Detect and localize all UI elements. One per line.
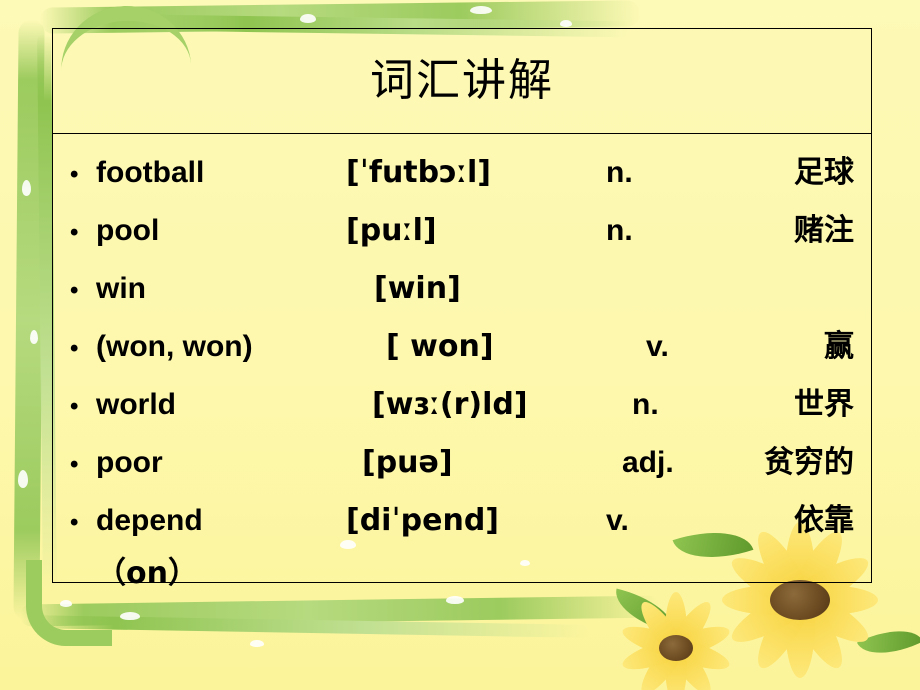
speckle [18,470,28,488]
vocab-pos: n. [632,376,659,434]
vocab-meaning: 依靠 [629,492,858,550]
bullet-icon: • [70,320,96,378]
vocab-phonetic: [ won] [346,318,646,376]
bullet-icon: • [70,494,96,552]
vocab-word: pool [96,202,346,260]
speckle [250,640,264,647]
slide-canvas: 词汇讲解 • football [ˈfutbɔːl] n. 足球 • pool … [0,0,920,690]
vocab-phonetic: [ˈfutbɔːl] [346,144,606,202]
vocab-word: (won, won) [96,318,346,376]
title-area: 词汇讲解 [52,28,872,134]
vocab-meaning: 赢 [669,318,858,376]
speckle [22,180,31,196]
continuation-text: （on） [70,550,198,598]
vocab-pos: v. [606,492,629,550]
vocab-phonetic: [win] [346,260,634,318]
vocab-meaning: 足球 [633,144,858,202]
vocab-phonetic: [wɜː(r)ld] [346,376,632,434]
speckle [300,14,316,23]
speckle [60,600,72,607]
vocab-word: world [96,376,346,434]
vocab-pos: adj. [622,434,674,492]
page-title: 词汇讲解 [370,59,554,103]
vocab-meaning: 世界 [659,376,858,434]
vocabulary-list: • football [ˈfutbɔːl] n. 足球 • pool [puːl… [52,134,872,583]
vocab-word: poor [96,434,346,492]
speckle [560,20,572,27]
vocab-phonetic: [puːl] [346,202,606,260]
speckle [120,612,140,620]
vocab-phonetic: [puə] [346,434,622,492]
list-item: • depend [diˈpend] v. 依靠 [70,492,858,550]
bullet-icon: • [70,436,96,494]
vocab-word: win [96,260,346,318]
bullet-icon: • [70,146,96,204]
bullet-icon: • [70,204,96,262]
bullet-icon: • [70,262,96,320]
vocab-phonetic: [diˈpend] [346,492,606,550]
vocab-pos: n. [606,202,633,260]
list-item: • poor [puə] adj. 贫穷的 [70,434,858,492]
list-item-continuation: （on） [70,550,858,598]
vocab-pos: n. [606,144,633,202]
vocab-meaning: 贫穷的 [674,434,858,492]
vocab-pos: v. [646,318,669,376]
speckle [470,6,492,14]
list-item: • pool [puːl] n. 赌注 [70,202,858,260]
speckle [30,330,38,344]
bullet-icon: • [70,378,96,436]
vocab-word: football [96,144,346,202]
vocab-meaning: 赌注 [633,202,858,260]
list-item: • (won, won) [ won] v. 赢 [70,318,858,376]
list-item: • football [ˈfutbɔːl] n. 足球 [70,144,858,202]
list-item: • win [win] [70,260,858,318]
list-item: • world [wɜː(r)ld] n. 世界 [70,376,858,434]
vocab-word: depend [96,492,346,550]
